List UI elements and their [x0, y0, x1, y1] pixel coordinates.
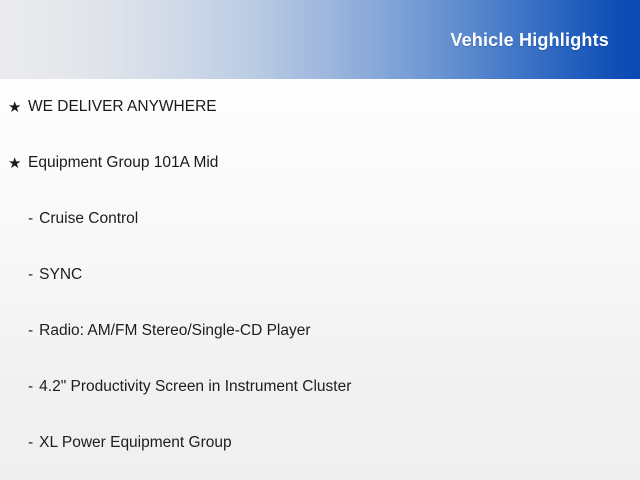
highlight-item: -XL Power Equipment Group [0, 415, 640, 471]
highlight-item-label: Cruise Control [39, 210, 138, 229]
highlight-item: ★Equipment Group 101A Mid [0, 135, 640, 191]
dash-bullet-icon: - [28, 323, 33, 339]
dash-bullet-icon: - [28, 267, 33, 283]
header-banner: Vehicle Highlights [0, 0, 640, 79]
dash-bullet-icon: - [28, 379, 33, 395]
dash-bullet-icon: - [28, 211, 33, 227]
dash-bullet-icon: - [28, 435, 33, 451]
highlight-item: -4.2" Productivity Screen in Instrument … [0, 359, 640, 415]
star-bullet-icon: ★ [8, 156, 28, 171]
highlight-item-label: Radio: AM/FM Stereo/Single-CD Player [39, 322, 310, 341]
vehicle-highlights-page: Vehicle Highlights ★WE DELIVER ANYWHERE★… [0, 0, 640, 480]
highlight-item-label: XL Power Equipment Group [39, 434, 231, 453]
highlight-item-label: WE DELIVER ANYWHERE [28, 98, 217, 117]
vehicle-highlights-list: ★WE DELIVER ANYWHERE★Equipment Group 101… [0, 79, 640, 471]
highlight-item: -Cruise Control [0, 191, 640, 247]
highlight-item-label: SYNC [39, 266, 82, 285]
highlight-item-label: 4.2" Productivity Screen in Instrument C… [39, 378, 351, 397]
highlight-item: ★WE DELIVER ANYWHERE [0, 79, 640, 135]
highlight-item-label: Equipment Group 101A Mid [28, 154, 218, 173]
star-bullet-icon: ★ [8, 100, 28, 115]
highlight-item: -Radio: AM/FM Stereo/Single-CD Player [0, 303, 640, 359]
highlight-item: -SYNC [0, 247, 640, 303]
page-title: Vehicle Highlights [450, 30, 609, 51]
